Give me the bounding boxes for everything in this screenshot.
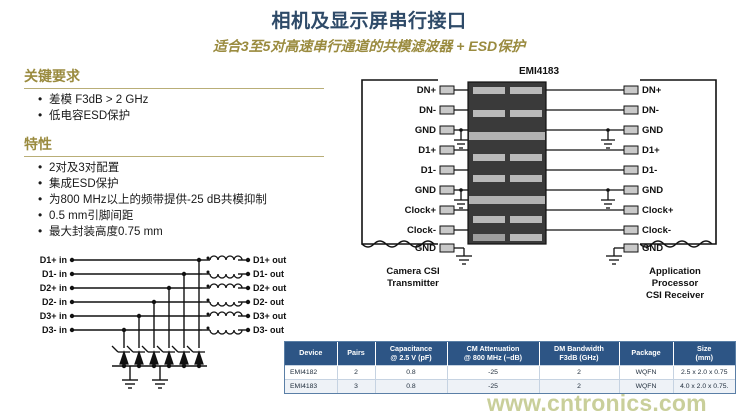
- cell-device: EMI4183: [285, 380, 337, 394]
- site-watermark: www.cntronics.com: [487, 390, 707, 417]
- spec-table: Device Pairs Capacitance @ 2.5 V (pF) CM…: [285, 342, 735, 393]
- slide-page: 相机及显示屏串行接口 适合3至5对高速串行通道的共模滤波器 + ESD保护 关键…: [0, 0, 738, 418]
- pin-label: DN+: [642, 85, 662, 96]
- section-features: 特性 2对及3对配置 集成ESD保护 为800 MHz以上的频带提供-25 dB…: [24, 134, 324, 240]
- list-item: 0.5 mm引脚间距: [38, 208, 324, 224]
- input-label: D2- in: [42, 297, 67, 307]
- input-label: D3+ in: [40, 311, 67, 321]
- left-caption: Camera CSI Transmitter: [386, 266, 439, 289]
- caption-line: Application: [649, 266, 701, 277]
- pin-label: DN-: [419, 105, 436, 116]
- cell-pairs: 2: [337, 366, 375, 380]
- col-header-pairs: Pairs: [337, 342, 375, 366]
- table-header-row: Device Pairs Capacitance @ 2.5 V (pF) CM…: [285, 342, 735, 366]
- esd-filter-schematic: D1+ in D1- in D2+ in D2- in D3+ in D3- i…: [12, 252, 312, 402]
- schematic-output-labels: D1+ out D1- out D2+ out D2- out D3+ out …: [253, 255, 286, 335]
- pin-label: GND: [642, 185, 663, 196]
- col-header-device: Device: [285, 342, 337, 366]
- pin-label: GND: [642, 125, 663, 136]
- esd-diodes: [112, 346, 205, 364]
- key-requirements-list: 差模 F3dB > 2 GHz 低电容ESD保护: [38, 92, 324, 124]
- header-line1: Package: [624, 349, 669, 358]
- cell-pairs: 3: [337, 380, 375, 394]
- cell-dm-bandwidth: 2: [539, 366, 619, 380]
- list-item: 差模 F3dB > 2 GHz: [38, 92, 324, 108]
- chip-label: EMI4183: [519, 66, 559, 77]
- ground-symbols: [122, 380, 168, 388]
- section-divider: [24, 156, 324, 157]
- caption-line: Transmitter: [387, 278, 439, 289]
- pin-label: D1-: [421, 165, 436, 176]
- pin-label: DN+: [417, 85, 437, 96]
- section-key-requirements: 关键要求 差模 F3dB > 2 GHz 低电容ESD保护: [24, 66, 324, 124]
- section-heading: 关键要求: [24, 66, 324, 87]
- choke-coils: [210, 256, 242, 334]
- input-label: D1+ in: [40, 255, 67, 265]
- section-heading: 特性: [24, 134, 324, 155]
- col-header-capacitance: Capacitance @ 2.5 V (pF): [375, 342, 447, 366]
- left-pin-labels: DN+ DN- GND D1+ D1- GND Clock+ Clock- GN…: [405, 85, 437, 254]
- spec-table-container: Device Pairs Capacitance @ 2.5 V (pF) CM…: [284, 341, 736, 394]
- emi4183-block-diagram: EMI4183: [340, 62, 738, 312]
- pin-label: Clock+: [405, 205, 437, 216]
- pin-label: GND: [642, 243, 663, 254]
- pin-label: D1+: [418, 145, 436, 156]
- list-item: 最大封装高度0.75 mm: [38, 224, 324, 240]
- header-line2: @ 2.5 V (pF): [380, 354, 443, 363]
- list-item: 2对及3对配置: [38, 160, 324, 176]
- list-item: 低电容ESD保护: [38, 108, 324, 124]
- header-line2: @ 800 MHz (–dB): [452, 354, 535, 363]
- coil-polarity-dots: [207, 257, 210, 330]
- header-line1: Device: [289, 349, 333, 358]
- output-label: D2- out: [253, 297, 284, 307]
- output-label: D2+ out: [253, 283, 286, 293]
- schematic-svg: D1+ in D1- in D2+ in D2- in D3+ in D3- i…: [12, 252, 312, 404]
- page-title: 相机及显示屏串行接口: [0, 6, 738, 33]
- cell-capacitance: 0.8: [375, 380, 447, 394]
- right-pin-labels: DN+ DN- GND D1+ D1- GND Clock+ Clock- GN…: [642, 85, 674, 254]
- header-line2: F3dB (GHz): [544, 354, 615, 363]
- right-caption: Application Processor CSI Receiver: [646, 266, 704, 301]
- col-header-cm-attenuation: CM Attenuation @ 800 MHz (–dB): [447, 342, 539, 366]
- cell-capacitance: 0.8: [375, 366, 447, 380]
- pin-label: Clock-: [407, 225, 436, 236]
- output-label: D3- out: [253, 325, 284, 335]
- cell-package: WQFN: [619, 366, 673, 380]
- cell-device: EMI4182: [285, 366, 337, 380]
- pin-label: Clock+: [642, 205, 674, 216]
- features-list: 2对及3对配置 集成ESD保护 为800 MHz以上的频带提供-25 dB共模抑…: [38, 160, 324, 240]
- pin-label: Clock-: [642, 225, 671, 236]
- pin-label: GND: [415, 125, 436, 136]
- schematic-input-labels: D1+ in D1- in D2+ in D2- in D3+ in D3- i…: [40, 255, 67, 335]
- block-diagram-svg: EMI4183: [340, 62, 738, 312]
- input-label: D1- in: [42, 269, 67, 279]
- output-label: D1- out: [253, 269, 284, 279]
- cell-size: 2.5 x 2.0 x 0.75: [673, 366, 735, 380]
- table-row[interactable]: EMI4182 2 0.8 -25 2 WQFN 2.5 x 2.0 x 0.7…: [285, 366, 735, 380]
- pin-label: D1-: [642, 165, 657, 176]
- list-item: 为800 MHz以上的频带提供-25 dB共模抑制: [38, 192, 324, 208]
- col-header-dm-bandwidth: DM Bandwidth F3dB (GHz): [539, 342, 619, 366]
- input-label: D3- in: [42, 325, 67, 335]
- header-line1: Pairs: [342, 349, 371, 358]
- input-label: D2+ in: [40, 283, 67, 293]
- output-label: D1+ out: [253, 255, 286, 265]
- pin-label: D1+: [642, 145, 660, 156]
- section-divider: [24, 88, 324, 89]
- col-header-size: Size (mm): [673, 342, 735, 366]
- caption-line: Camera CSI: [386, 266, 439, 277]
- header-line2: (mm): [678, 354, 732, 363]
- output-label: D3+ out: [253, 311, 286, 321]
- pin-label: GND: [415, 243, 436, 254]
- pin-label: DN-: [642, 105, 659, 116]
- left-pin-group: [440, 86, 472, 264]
- col-header-package: Package: [619, 342, 673, 366]
- caption-line: Processor: [652, 278, 699, 289]
- caption-line: CSI Receiver: [646, 290, 704, 301]
- cell-cm-attenuation: -25: [447, 366, 539, 380]
- pin-label: GND: [415, 185, 436, 196]
- page-subtitle: 适合3至5对高速串行通道的共模滤波器 + ESD保护: [0, 36, 738, 56]
- list-item: 集成ESD保护: [38, 176, 324, 192]
- right-pin-group: [546, 86, 638, 264]
